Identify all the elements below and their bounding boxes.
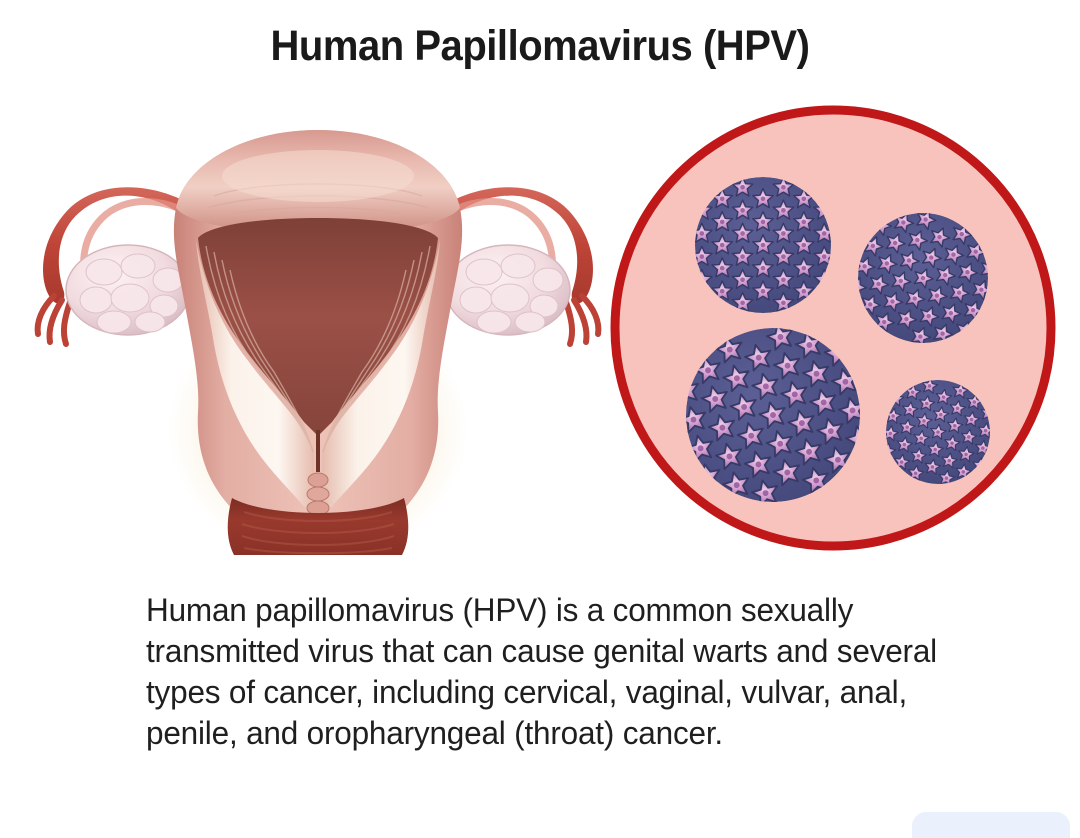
right-fimbriae <box>566 296 598 344</box>
description-line-1: Human papillomavirus (HPV) is a common s… <box>146 590 1037 631</box>
left-fimbriae <box>38 296 70 344</box>
fundus-highlight <box>222 150 414 202</box>
description-text: Human papillomavirus (HPV) is a common s… <box>146 590 1037 754</box>
virus-field-circle <box>615 110 1051 546</box>
cervical-canal <box>316 430 320 472</box>
bottom-card-edge <box>912 812 1070 838</box>
description-line-4: penile, and oropharyngeal (throat) cance… <box>146 713 1037 754</box>
description-line-2: transmitted virus that can cause genital… <box>146 631 1037 672</box>
female-reproductive-system-illustration <box>18 100 618 555</box>
illustration-row <box>0 95 1080 565</box>
left-ovary-group <box>66 245 190 335</box>
page-title: Human Papillomavirus (HPV) <box>38 22 1042 71</box>
description-line-3: types of cancer, including cervical, vag… <box>146 672 1037 713</box>
right-ovary-group <box>446 245 570 335</box>
hpv-virus-illustration <box>608 100 1058 555</box>
